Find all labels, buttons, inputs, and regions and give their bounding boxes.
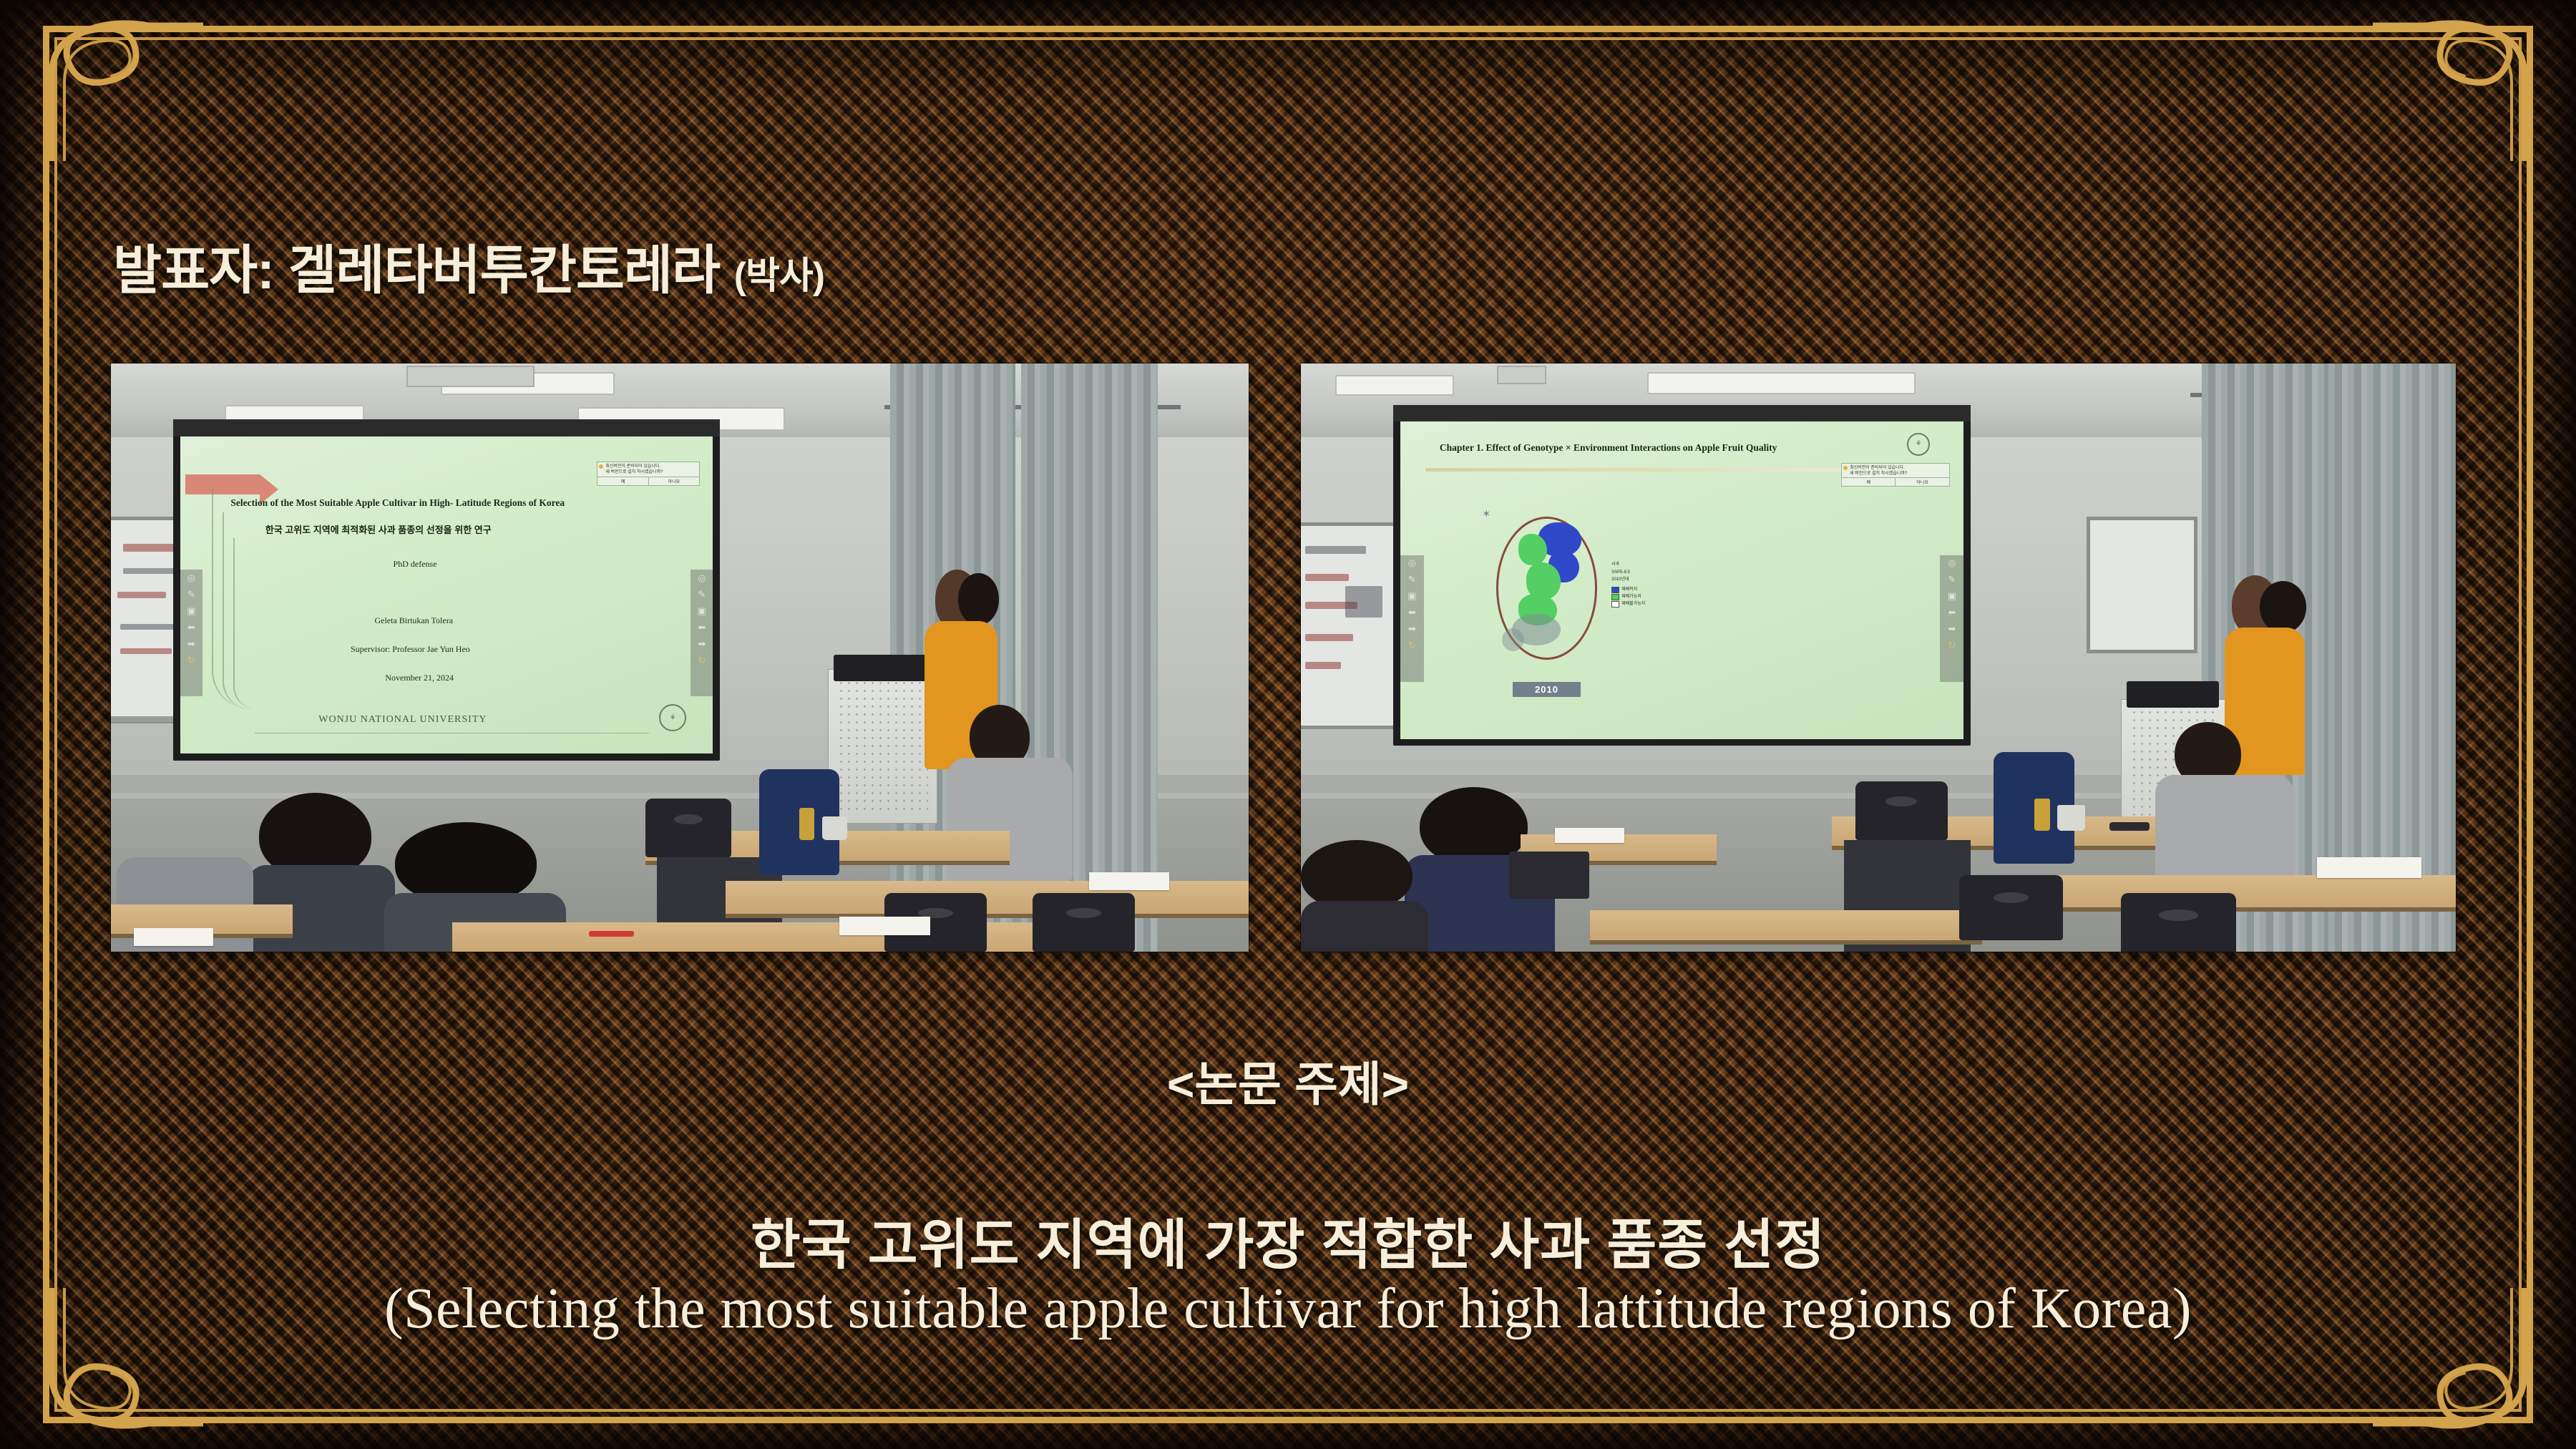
popup-line-1: 최신버전이 준비되어 있습니다. [605, 464, 697, 469]
podium [828, 669, 937, 824]
podium-perforation [837, 679, 928, 814]
screen-top-bar [1393, 405, 1971, 422]
popup-text: 최신버전이 준비되어 있습니다. 새 버전으로 설치 하시겠습니까? [1842, 464, 1949, 477]
pen-icon[interactable]: ✎ [691, 586, 713, 602]
whiteboard-writing [117, 592, 166, 597]
capture-icon[interactable]: ▣ [691, 602, 713, 619]
slide-event: PhD defense [394, 559, 437, 570]
legend-item: 재배가능지 [1611, 593, 1645, 600]
legend-item: 재배적지 [1611, 586, 1645, 593]
presenter-name-line: 발표자: 겔레타버투칸토레라 (박사) [113, 228, 824, 304]
podium-monitor [834, 655, 930, 681]
legend-label: 재배가능지 [1621, 593, 1641, 600]
popup-line-2: 새 버전으로 설치 하시겠습니까? [1850, 471, 1947, 477]
pen-icon[interactable]: ✎ [1940, 572, 1963, 588]
popup-line-1: 최신버전이 준비되어 있습니다. [1850, 465, 1947, 471]
university-logo: ⚘ [659, 704, 686, 731]
slide-date: November 21, 2024 [385, 673, 454, 683]
photo-left[interactable]: Selection of the Most Suitable Apple Cul… [111, 364, 1249, 952]
refresh-icon[interactable]: ↻ [1400, 638, 1424, 654]
prev-icon[interactable]: ⬅ [180, 619, 203, 635]
chair [1959, 875, 2063, 940]
legend-item: 재배불가능지 [1611, 600, 1645, 608]
paper-sheet [839, 917, 930, 935]
slide-title-ko: 한국 고위도 지역에 최적화된 사과 품종의 선정을 위한 연구 [265, 522, 492, 536]
popup-confirm-button[interactable]: 예 [1842, 478, 1896, 486]
chair-handle [2159, 909, 2198, 920]
topic-english: (Selecting the most suitable apple culti… [0, 1277, 2576, 1342]
capture-icon[interactable]: ▣ [180, 602, 203, 619]
projection-screen-left: Selection of the Most Suitable Apple Cul… [180, 436, 713, 753]
popup-cancel-button[interactable]: 아니요 [649, 477, 699, 485]
bottle [799, 808, 814, 840]
laptop [1509, 852, 1590, 899]
chair-handle [674, 814, 703, 824]
record-icon[interactable]: ◎ [691, 570, 713, 586]
classroom-scene-left: Selection of the Most Suitable Apple Cul… [111, 364, 1249, 952]
next-icon[interactable]: ➡ [1400, 621, 1424, 638]
whiteboard-writing [1305, 574, 1349, 581]
chair [1855, 781, 1948, 840]
paper-sheet [1555, 828, 1624, 843]
audience-body [1301, 901, 1428, 952]
screen-top-bar [173, 419, 719, 436]
slide-title-en: Selection of the Most Suitable Apple Cul… [230, 497, 565, 509]
whiteboard-writing [120, 648, 172, 654]
paper-sheet [2317, 857, 2421, 878]
record-icon[interactable]: ◎ [1940, 555, 1963, 572]
phone [2109, 822, 2150, 831]
whiteboard [1301, 522, 1400, 729]
legend-heading-1: 사과 [1611, 561, 1645, 568]
update-popup[interactable]: 최신버전이 준비되어 있습니다. 새 버전으로 설치 하시겠습니까? 예 아니요 [1841, 463, 1950, 487]
refresh-icon[interactable]: ↻ [1940, 638, 1963, 654]
slide-supervisor: Supervisor: Professor Jae Yun Heo [351, 644, 470, 655]
presenter-degree: (박사) [734, 255, 824, 297]
legend-label: 재배불가능지 [1621, 600, 1645, 608]
projector-toolbar-right[interactable]: ◎ ✎ ▣ ⬅ ➡ ↻ [691, 570, 713, 696]
compass-icon: ✶ [1482, 507, 1491, 520]
audience-head [395, 822, 537, 904]
legend-swatch-unsuitable [1611, 601, 1619, 608]
chair [645, 799, 731, 857]
legend-swatch-suitable [1611, 587, 1619, 593]
chair [1033, 893, 1135, 952]
ceiling-vent [406, 366, 535, 386]
topic-korean: 한국 고위도 지역에 가장 적합한 사과 품종 선정 [0, 1201, 2576, 1279]
legend-heading-3: 2010년대 [1611, 576, 1645, 583]
projection-screen-frame: Selection of the Most Suitable Apple Cul… [173, 419, 719, 761]
paper-sheet [134, 928, 213, 946]
projector-toolbar-right[interactable]: ◎ ✎ ▣ ⬅ ➡ ↻ [1940, 555, 1963, 682]
map-zone-unsuitable [1502, 628, 1524, 651]
next-icon[interactable]: ➡ [1940, 621, 1963, 638]
chair [2121, 893, 2236, 952]
year-badge: 2010 [1513, 682, 1581, 697]
record-icon[interactable]: ◎ [180, 570, 203, 586]
audience-head [1301, 840, 1413, 911]
pen [589, 931, 635, 936]
ceiling-light [1335, 375, 1453, 396]
cup [822, 816, 847, 840]
pen-icon[interactable]: ✎ [1400, 572, 1424, 588]
chair-handle [1994, 892, 2029, 903]
chapter-title: Chapter 1. Effect of Genotype × Environm… [1440, 442, 1777, 454]
audience-member [2155, 722, 2294, 899]
podium-monitor [2127, 681, 2219, 708]
refresh-icon[interactable]: ↻ [691, 652, 713, 668]
popup-confirm-button[interactable]: 예 [597, 477, 648, 485]
popup-cancel-button[interactable]: 아니요 [1896, 478, 1948, 486]
next-icon[interactable]: ➡ [180, 635, 203, 652]
whiteboard-writing [1345, 586, 1382, 618]
chair-handle [1066, 908, 1101, 918]
classroom-scene-right: Chapter 1. Effect of Genotype × Environm… [1301, 364, 2456, 952]
presentation-slide: Selection of the Most Suitable Apple Cul… [0, 0, 2576, 1449]
prev-icon[interactable]: ⬅ [1940, 605, 1963, 621]
paper-sheet [1089, 872, 1169, 890]
legend-label: 재배적지 [1621, 586, 1637, 593]
bottle [2034, 799, 2051, 831]
audience-member [1301, 840, 1428, 952]
record-icon[interactable]: ◎ [1400, 555, 1424, 572]
update-popup[interactable]: 최신버전이 준비되어 있습니다. 새 버전으로 설치 하시겠습니까? 예 아니요 [597, 462, 700, 485]
whiteboard-writing [1305, 634, 1353, 641]
map-legend: 사과 SSP5-8.5 2010년대 재배적지 재배가능지 [1611, 561, 1645, 608]
next-icon[interactable]: ➡ [691, 635, 713, 652]
whiteboard-writing [1305, 546, 1365, 554]
projection-screen-right: Chapter 1. Effect of Genotype × Environm… [1400, 421, 1964, 738]
chapter-rule [1425, 468, 1882, 472]
prev-icon[interactable]: ⬅ [691, 619, 713, 635]
ceiling-light [1647, 372, 1916, 394]
cup [2057, 805, 2085, 831]
presenter-hair [2260, 581, 2306, 633]
whiteboard-writing [1305, 662, 1340, 669]
projector-toolbar-left[interactable]: ◎ ✎ ▣ ⬅ ➡ ↻ [180, 570, 203, 696]
desk [1590, 910, 1983, 944]
ceiling-vent [1497, 366, 1546, 384]
legend-heading-2: SSP5-8.5 [1611, 569, 1645, 576]
korea-map [1496, 517, 1598, 660]
map-zone-possible [1518, 534, 1547, 565]
popup-buttons[interactable]: 예 아니요 [1842, 477, 1949, 486]
slide-university: WONJU NATIONAL UNIVERSITY [318, 714, 487, 726]
projection-screen-frame: Chapter 1. Effect of Genotype × Environm… [1393, 405, 1971, 746]
popup-text: 최신버전이 준비되어 있습니다. 새 버전으로 설치 하시겠습니까? [597, 462, 699, 476]
presenter-label: 발표자: 겔레타버투칸토레라 [113, 240, 720, 300]
slide-rule [255, 733, 649, 733]
topic-label: <논문 주제> [0, 1046, 2576, 1115]
capture-icon[interactable]: ▣ [1400, 588, 1424, 605]
slide-author: Geleta Birtukan Tolera [374, 615, 453, 626]
desk [726, 881, 1249, 917]
university-logo: ⚘ [1907, 433, 1930, 456]
projector-toolbar-left[interactable]: ◎ ✎ ▣ ⬅ ➡ ↻ [1400, 555, 1424, 682]
pen-icon[interactable]: ✎ [180, 586, 203, 602]
capture-icon[interactable]: ▣ [1940, 588, 1963, 605]
refresh-icon[interactable]: ↻ [180, 652, 203, 668]
slide-vine-decoration [233, 538, 256, 709]
presenter-hair [958, 573, 1000, 625]
whiteboard-writing [123, 568, 180, 574]
prev-icon[interactable]: ⬅ [1400, 605, 1424, 621]
popup-buttons[interactable]: 예 아니요 [597, 477, 699, 485]
photo-right[interactable]: Chapter 1. Effect of Genotype × Environm… [1301, 364, 2456, 952]
legend-swatch-possible [1611, 594, 1619, 600]
popup-line-2: 새 버전으로 설치 하시겠습니까? [605, 469, 697, 475]
whiteboard [2087, 517, 2197, 653]
chair-handle [1885, 796, 1917, 806]
